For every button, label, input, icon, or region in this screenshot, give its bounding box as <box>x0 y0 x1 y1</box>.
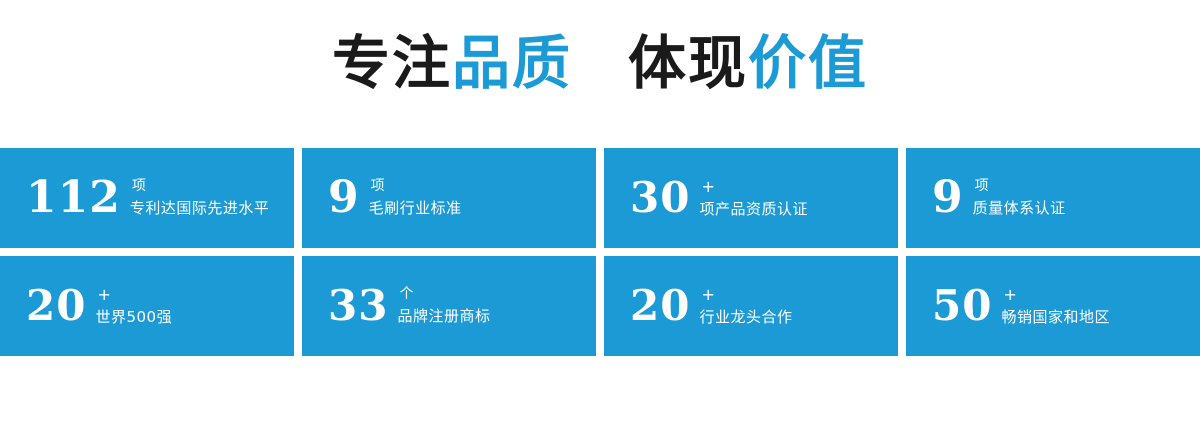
stat-number: 33 <box>328 285 388 327</box>
stat-unit: 项 <box>371 179 385 194</box>
stat-unit: + <box>97 286 110 304</box>
stat-number: 20 <box>26 285 86 327</box>
stat-card: 33 个 品牌注册商标 <box>302 256 596 356</box>
stats-grid: 112 项 专利达国际先进水平 9 项 毛刷行业标准 30 + <box>0 148 1200 356</box>
stat-card: 20 + 世界500强 <box>0 256 294 356</box>
stat-description: 项产品资质认证 <box>699 200 808 218</box>
stat-unit: + <box>701 286 714 304</box>
stat-number: 9 <box>328 176 360 220</box>
title-segment-quality: 品质 <box>452 34 572 92</box>
stat-card: 50 + 畅销国家和地区 <box>906 256 1200 356</box>
stat-description: 质量体系认证 <box>973 199 1066 217</box>
stat-number: 50 <box>932 285 992 327</box>
stat-card: 9 项 毛刷行业标准 <box>302 148 596 248</box>
title-segment-value: 价值 <box>748 34 868 92</box>
stat-card: 30 + 项产品资质认证 <box>604 148 898 248</box>
stat-description: 世界500强 <box>95 308 172 326</box>
title-segment-embody: 体现 <box>628 34 748 92</box>
stat-unit: + <box>701 178 714 196</box>
stat-unit: 项 <box>132 179 146 194</box>
stat-number: 30 <box>630 177 690 219</box>
page-title: 专注品质体现价值 <box>0 34 1200 92</box>
stat-number: 20 <box>630 285 690 327</box>
stat-unit: 个 <box>399 287 413 302</box>
stat-unit: + <box>1003 286 1016 304</box>
stat-description: 毛刷行业标准 <box>369 199 462 217</box>
stat-description: 专利达国际先进水平 <box>130 199 270 217</box>
stat-card: 112 项 专利达国际先进水平 <box>0 148 294 248</box>
stat-number: 9 <box>932 176 964 220</box>
stat-number: 112 <box>26 176 121 220</box>
stat-description: 品牌注册商标 <box>397 307 490 325</box>
promo-banner: 专注品质体现价值 112 项 专利达国际先进水平 9 项 毛刷行业标准 <box>0 0 1200 444</box>
stat-card: 9 项 质量体系认证 <box>906 148 1200 248</box>
stat-card: 20 + 行业龙头合作 <box>604 256 898 356</box>
stat-unit: 项 <box>975 179 989 194</box>
stat-description: 畅销国家和地区 <box>1001 308 1110 326</box>
title-segment-focus: 专注 <box>332 34 452 92</box>
stat-description: 行业龙头合作 <box>699 308 792 326</box>
